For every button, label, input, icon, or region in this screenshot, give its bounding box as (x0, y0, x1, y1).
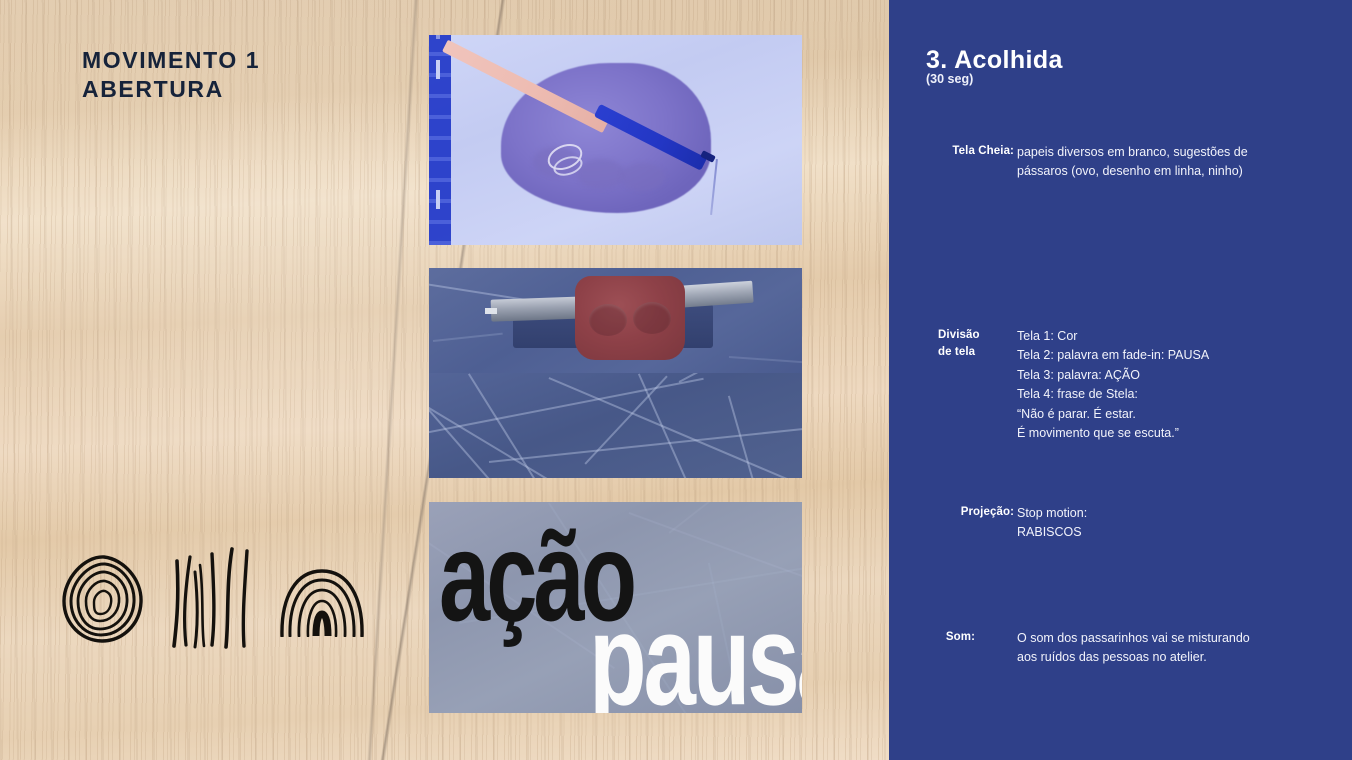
section-duration: (30 seg) (926, 72, 973, 86)
doodle-group (60, 545, 380, 655)
knuckle-shade (621, 163, 665, 191)
detail-value: papeis diversos em branco, sugestões de … (1017, 143, 1248, 182)
tool-tip (485, 308, 497, 314)
knuckle-shade (577, 159, 625, 189)
hand-drawing-photo (429, 35, 802, 245)
word-pausa: pausa (589, 602, 802, 713)
page-title: MOVIMENTO 1 ABERTURA (82, 46, 260, 105)
heading-line-2: ABERTURA (82, 75, 260, 104)
acao-pausa-typography-photo: ação pausa (429, 502, 802, 713)
detail-value: Stop motion: RABISCOS (1017, 504, 1087, 543)
egg-concentric-doodle (60, 553, 146, 645)
detail-value: O som dos passarinhos vai se misturando … (1017, 629, 1250, 668)
tool-photo-bottom-half (429, 373, 802, 478)
tool-grip (575, 276, 685, 360)
tool-photo-top-half (429, 268, 802, 373)
tool-blade-left (491, 296, 588, 321)
heading-line-1: MOVIMENTO 1 (82, 46, 260, 75)
detail-value: Tela 1: Cor Tela 2: palavra em fade-in: … (1017, 327, 1209, 443)
cutter-tool-photo (429, 268, 802, 478)
detail-label: Som: (946, 629, 975, 646)
detail-label: Projeção: (961, 504, 1014, 521)
nest-arches-doodle (278, 567, 366, 637)
section-title: 3. Acolhida (926, 46, 1063, 75)
grass-strokes-doodle (168, 545, 256, 649)
detail-label: Divisão de tela (938, 327, 980, 360)
notebook-spiral-binding (429, 35, 451, 245)
detail-label: Tela Cheia: (952, 143, 1014, 160)
